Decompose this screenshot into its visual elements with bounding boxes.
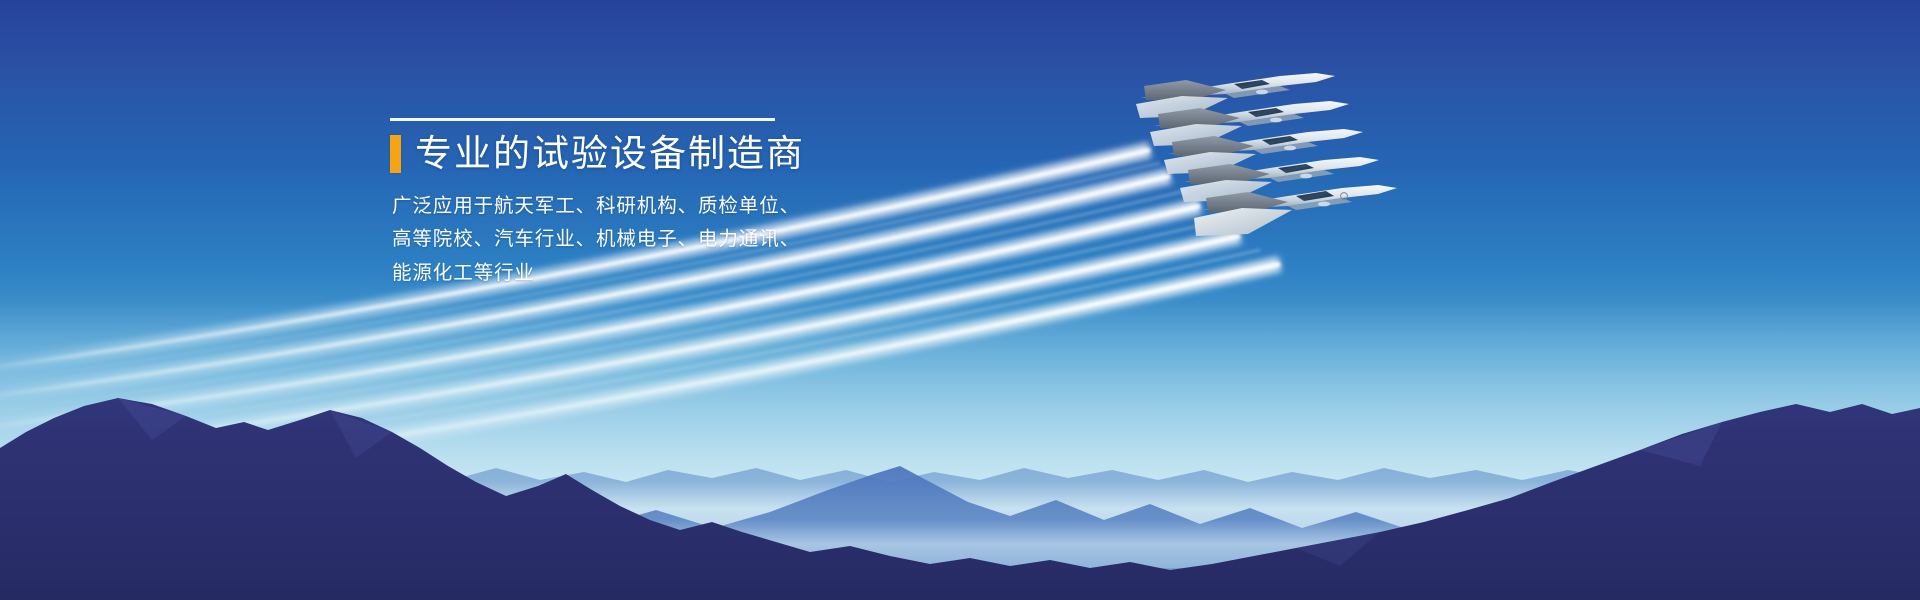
- heading-row: 专业的试验设备制造商: [390, 135, 870, 174]
- subtitle-line-1: 广泛应用于航天军工、科研机构、质检单位、: [392, 190, 870, 224]
- accent-bar: [390, 135, 401, 173]
- heading-divider-line: [390, 118, 775, 121]
- mountain-range-group: [0, 370, 1920, 600]
- page-title: 专业的试验设备制造商: [415, 135, 805, 174]
- subtitle-line-2: 高等院校、汽车行业、机械电子、电力通讯、: [392, 223, 870, 257]
- hero-banner: 专业的试验设备制造商 广泛应用于航天军工、科研机构、质检单位、 高等院校、汽车行…: [0, 0, 1920, 600]
- fighter-jet-formation-icon: [1130, 40, 1530, 270]
- hero-subtitle: 广泛应用于航天军工、科研机构、质检单位、 高等院校、汽车行业、机械电子、电力通讯…: [392, 190, 870, 291]
- subtitle-line-3: 能源化工等行业: [392, 257, 870, 291]
- hero-text-block: 专业的试验设备制造商 广泛应用于航天军工、科研机构、质检单位、 高等院校、汽车行…: [390, 118, 870, 290]
